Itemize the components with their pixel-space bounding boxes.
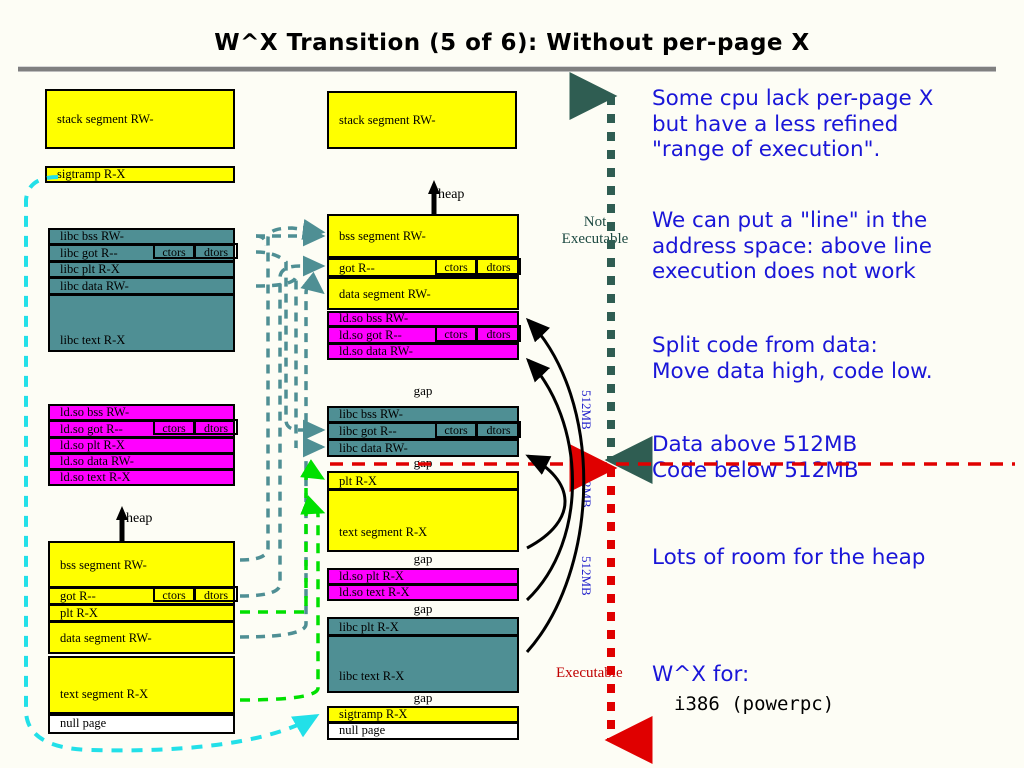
right-block-plt: plt R-X [327,471,519,490]
block-label: null page [60,717,106,730]
page-title: W^X Transition (5 of 6): Without per-pag… [0,30,1024,56]
block-label: data segment RW- [339,287,431,300]
prose-paragraph-2: We can put a "line" in the address space… [652,208,1022,285]
left-block-ldso-plt: ld.so plt R-X [48,437,235,454]
right-block-sigtramp: sigtramp R-X [327,706,519,723]
block-label: text segment R-X [339,526,427,539]
mb-label-bottom: 512MB [578,556,594,596]
ctors-label: ctors [162,245,185,259]
block-label: libc data RW- [60,280,129,293]
block-label: ld.so got R-- [339,329,402,342]
block-label: ld.so got R-- [60,423,123,436]
block-label: sigtramp R-X [57,168,125,181]
block-label: libc plt R-X [60,263,120,276]
block-label: ld.so text R-X [339,586,409,599]
block-label: libc got R-- [339,425,397,438]
left-libc-ctors: ctors [153,243,195,259]
ctors-label: ctors [444,260,467,274]
right-prog-dtors: dtors [476,258,521,275]
right-block-libc-plt: libc plt R-X [327,617,519,636]
left-prog-ctors: ctors [153,586,195,602]
right-block-bss-segment: bss segment RW- [327,214,519,258]
block-label: ld.so bss RW- [339,312,408,325]
left-libc-dtors: dtors [194,243,238,259]
dtors-label: dtors [204,421,228,435]
left-block-ldso-data: ld.so data RW- [48,453,235,470]
block-label: ld.so text R-X [60,471,130,484]
right-ldso-ctors: ctors [435,325,477,342]
code-connector-arrows [240,472,322,700]
right-block-stack-segment: stack segment RW- [327,91,517,149]
gap-label-5: gap [383,690,463,706]
relocation-curve-arrows [527,320,584,652]
left-prog-dtors: dtors [194,586,238,602]
data-connector-hooks [256,236,266,246]
ctors-label: ctors [162,421,185,435]
left-heap-label: heap [126,511,152,527]
mb-label-top: 512MB [578,390,594,430]
ctors-label: ctors [162,588,185,602]
right-libc-dtors: dtors [476,421,521,438]
prose-paragraph-5: Lots of room for the heap [652,545,1022,571]
gap-label-1: gap [383,383,463,399]
block-label: ld.so plt R-X [339,570,404,583]
block-label: null page [339,724,385,737]
left-block-stack-segment: stack segment RW- [45,89,235,149]
executable-label: Executable [556,665,623,682]
right-block-ldso-plt: ld.so plt R-X [327,568,519,585]
block-label: libc got R-- [60,247,118,260]
block-label: ld.so bss RW- [60,406,129,419]
right-block-ldso-text: ld.so text R-X [327,584,519,601]
right-heap-label: heap [438,187,464,203]
block-label: plt R-X [60,607,98,620]
left-block-libc-text: libc text R-X [48,294,235,352]
block-label: libc plt R-X [339,621,399,634]
gap-label-4: gap [383,601,463,617]
block-label: data segment RW- [60,631,152,644]
right-block-data-segment: data segment RW- [327,277,519,310]
left-block-text-segment: text segment R-X [48,656,235,714]
prose-paragraph-4: Data above 512MB Code below 512MB [652,432,1022,483]
right-libc-ctors: ctors [435,421,477,438]
left-block-bss-segment: bss segment RW- [48,541,235,588]
block-label: plt R-X [339,475,377,488]
left-block-libc-data: libc data RW- [48,277,235,295]
block-label: bss segment RW- [339,230,426,243]
left-block-ldso-text: ld.so text R-X [48,469,235,486]
block-label: ld.so data RW- [60,455,134,468]
block-label: libc text R-X [60,334,125,347]
dtors-label: dtors [204,245,228,259]
prose-paragraph-6: W^X for: [652,662,1022,688]
block-label: got R-- [339,262,375,275]
ctors-label: ctors [444,327,467,341]
block-label: libc bss RW- [339,408,403,421]
ctors-label: ctors [444,423,467,437]
dtors-label: dtors [487,260,511,274]
left-block-plt: plt R-X [48,604,235,622]
left-ldso-dtors: dtors [194,419,238,435]
right-block-libc-text: libc text R-X [327,635,519,693]
left-block-null-page: null page [48,714,235,734]
block-label: text segment R-X [60,688,148,701]
block-label: ld.so plt R-X [60,439,125,452]
block-label: libc data RW- [339,442,408,455]
dtors-label: dtors [487,423,511,437]
block-label: ld.so data RW- [339,345,413,358]
right-block-ldso-data: ld.so data RW- [327,343,519,360]
block-label: sigtramp R-X [339,708,407,721]
prose-paragraph-1: Some cpu lack per-page X but have a less… [652,86,1022,163]
not-executable-label: Not Executable [549,214,641,248]
mb-label-mid: 512MB [578,468,594,508]
gap-label-2: gap [383,455,463,471]
title-divider [18,66,996,72]
prose-paragraph-7: i386 (powerpc) [674,692,1024,718]
block-label: stack segment RW- [339,114,436,127]
dtors-label: dtors [487,327,511,341]
right-block-null-page: null page [327,722,519,740]
dtors-label: dtors [204,588,228,602]
prose-paragraph-3: Split code from data: Move data high, co… [652,333,1022,384]
block-label: got R-- [60,590,96,603]
left-block-libc-plt: libc plt R-X [48,261,235,278]
block-label: stack segment RW- [57,113,154,126]
right-ldso-dtors: dtors [476,325,521,342]
gap-label-3: gap [383,551,463,567]
right-block-text-segment: text segment R-X [327,489,519,552]
right-prog-ctors: ctors [435,258,477,275]
left-block-sigtramp: sigtramp R-X [45,166,235,183]
block-label: bss segment RW- [60,558,147,571]
block-label: libc bss RW- [60,230,124,243]
block-label: libc text R-X [339,670,404,683]
left-ldso-ctors: ctors [153,419,195,435]
data-connector-arrows [240,228,322,637]
left-block-data-segment: data segment RW- [48,621,235,654]
